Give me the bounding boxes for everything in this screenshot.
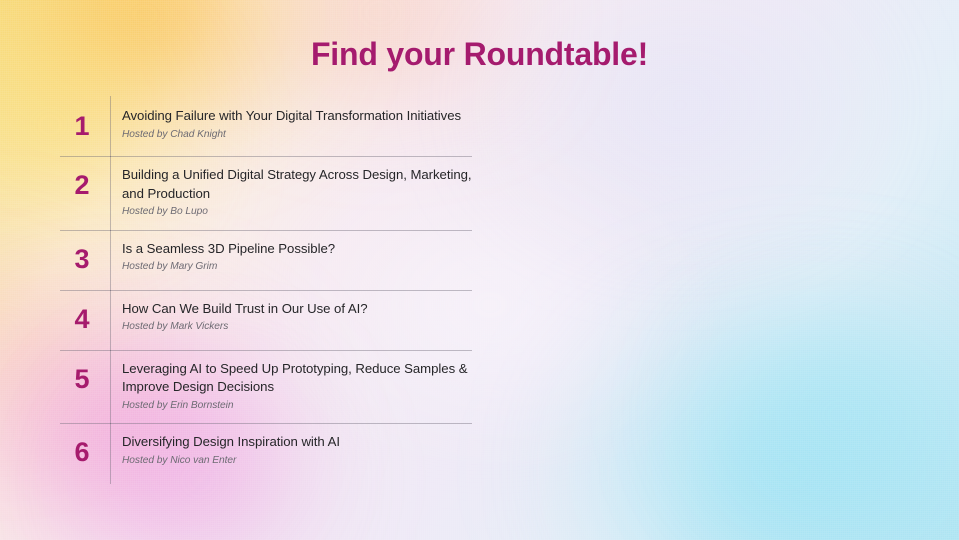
session-body: Leveraging AI to Speed Up Prototyping, R… xyxy=(111,358,472,413)
session-host: Hosted by Erin Bornstein xyxy=(122,399,472,413)
session-host: Hosted by Mark Vickers xyxy=(122,320,472,334)
session-row[interactable]: 1Avoiding Failure with Your Digital Tran… xyxy=(60,96,472,156)
session-number: 5 xyxy=(60,358,110,393)
session-number: 2 xyxy=(60,164,110,199)
session-number: 3 xyxy=(60,238,110,273)
session-body: How Can We Build Trust in Our Use of AI?… xyxy=(111,298,472,334)
session-row[interactable]: 5Leveraging AI to Speed Up Prototyping, … xyxy=(60,350,472,424)
session-host: Hosted by Bo Lupo xyxy=(122,205,472,219)
session-columns: 1Avoiding Failure with Your Digital Tran… xyxy=(0,96,959,497)
session-title: How Can We Build Trust in Our Use of AI? xyxy=(122,300,472,319)
session-number: 1 xyxy=(60,105,110,140)
session-row[interactable]: 2Building a Unified Digital Strategy Acr… xyxy=(60,156,472,230)
session-row[interactable]: 3Is a Seamless 3D Pipeline Possible?Host… xyxy=(60,230,472,290)
session-body: Diversifying Design Inspiration with AIH… xyxy=(111,431,472,467)
session-title: Is a Seamless 3D Pipeline Possible? xyxy=(122,240,472,259)
session-host: Hosted by Mary Grim xyxy=(122,260,472,274)
left-column: 1Avoiding Failure with Your Digital Tran… xyxy=(0,96,479,497)
session-row[interactable]: 6Diversifying Design Inspiration with AI… xyxy=(60,423,472,483)
slide: Find your Roundtable! 1Avoiding Failure … xyxy=(0,0,959,540)
session-host: Hosted by Chad Knight xyxy=(122,128,472,142)
session-title: Building a Unified Digital Strategy Acro… xyxy=(122,166,472,203)
session-body: Building a Unified Digital Strategy Acro… xyxy=(111,164,472,219)
right-column: 7The Role of 3D Printing in Moving Towar… xyxy=(479,96,959,497)
session-title: Diversifying Design Inspiration with AI xyxy=(122,433,472,452)
session-host: Hosted by Nico van Enter xyxy=(122,454,472,468)
page-title: Find your Roundtable! xyxy=(0,36,959,73)
session-title: Leveraging AI to Speed Up Prototyping, R… xyxy=(122,360,472,397)
session-body: Is a Seamless 3D Pipeline Possible?Hoste… xyxy=(111,238,472,274)
session-row[interactable]: 4How Can We Build Trust in Our Use of AI… xyxy=(60,290,472,350)
session-number: 6 xyxy=(60,431,110,466)
session-body: Avoiding Failure with Your Digital Trans… xyxy=(111,105,472,141)
session-title: Avoiding Failure with Your Digital Trans… xyxy=(122,107,472,126)
session-number: 4 xyxy=(60,298,110,333)
